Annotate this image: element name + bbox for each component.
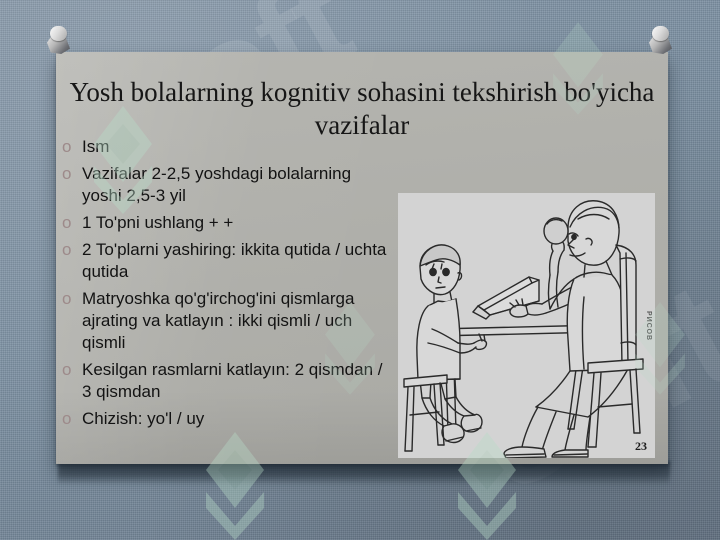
list-item: o Chizish: yo'l / uy — [62, 408, 392, 430]
bullet-marker-icon: o — [62, 239, 82, 261]
bullet-marker-icon: o — [62, 408, 82, 430]
list-item: o 1 To'pni ushlang + + — [62, 212, 392, 234]
bullet-marker-icon: o — [62, 212, 82, 234]
list-item-text: Kesilgan rasmlarni katlayın: 2 qismdan /… — [82, 359, 392, 403]
list-item-text: 2 To'plarni yashiring: ikkita qutida / u… — [82, 239, 392, 283]
bullet-marker-icon: o — [62, 136, 82, 158]
bullet-marker-icon: o — [62, 288, 82, 310]
list-item: o Ism — [62, 136, 392, 158]
bullet-marker-icon: o — [62, 359, 82, 381]
list-item: o 2 To'plarni yashiring: ikkita qutida /… — [62, 239, 392, 283]
list-item-text: Ism — [82, 136, 392, 158]
bullet-list: o Ism o Vazifalar 2-2,5 yoshdagi bolalar… — [62, 136, 392, 435]
list-item-text: Matryoshka qo'g'irchog'ini qismlarga ajr… — [82, 288, 392, 354]
list-item: o Kesilgan rasmlarni katlayın: 2 qismdan… — [62, 359, 392, 403]
mounting-pin-top-right — [648, 26, 674, 60]
pin-cap-icon — [652, 26, 669, 41]
mounting-pin-top-left — [46, 26, 72, 60]
slide-canvas: soft soft Yosh bolalarning kognitiv soha… — [0, 0, 720, 540]
illustration-image: РИСОВ 23 — [398, 193, 655, 458]
presentation-board: Yosh bolalarning kognitiv sohasini teksh… — [56, 52, 668, 464]
list-item-text: Chizish: yo'l / uy — [82, 408, 392, 430]
illustration-side-caption: РИСОВ — [645, 311, 652, 341]
list-item: o Vazifalar 2-2,5 yoshdagi bolalarning y… — [62, 163, 392, 207]
list-item: o Matryoshka qo'g'irchog'ini qismlarga a… — [62, 288, 392, 354]
list-item-text: 1 To'pni ushlang + + — [82, 212, 392, 234]
list-item-text: Vazifalar 2-2,5 yoshdagi bolalarning yos… — [82, 163, 392, 207]
board-drop-shadow — [58, 461, 670, 485]
line-drawing-svg — [398, 193, 655, 458]
illustration-page-number: 23 — [635, 439, 647, 454]
bullet-marker-icon: o — [62, 163, 82, 185]
pin-cap-icon — [50, 26, 67, 41]
page-title: Yosh bolalarning kognitiv sohasini teksh… — [56, 76, 668, 142]
